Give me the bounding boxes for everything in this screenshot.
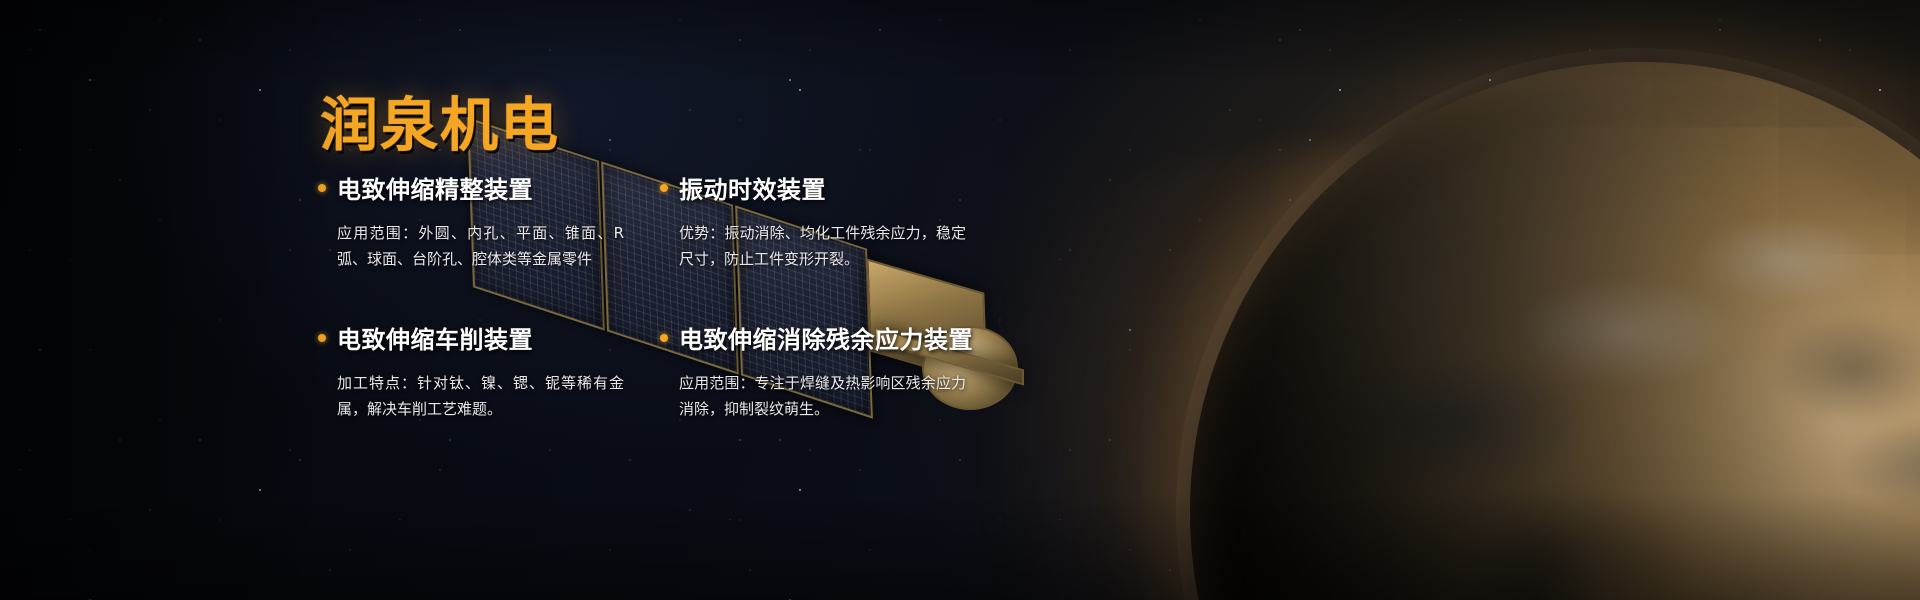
feature-2-description: 优势：振动消除、均化工件残余应力，稳定尺寸，防止工件变形开裂。 [660, 220, 966, 272]
orange-dot-icon [318, 184, 326, 192]
feature-4-header: 电致伸缩消除残余应力装置 [660, 320, 998, 355]
feature-4-title: 电致伸缩消除残余应力装置 [679, 320, 973, 355]
banner-content: 润泉机电 电致伸缩精整装置 应用范围：外圆、内孔、平面、锥面、R弧、球面、台阶孔… [0, 0, 1920, 600]
feature-3-header: 电致伸缩车削装置 [318, 320, 656, 355]
feature-1-description: 应用范围：外圆、内孔、平面、锥面、R弧、球面、台阶孔、腔体类等金属零件 [318, 220, 624, 272]
feature-2-header: 振动时效装置 [660, 170, 998, 205]
feature-item-2[interactable]: 振动时效装置 优势：振动消除、均化工件残余应力，稳定尺寸，防止工件变形开裂。 [660, 170, 998, 272]
orange-dot-icon [318, 334, 326, 342]
feature-2-title: 振动时效装置 [679, 170, 826, 205]
orange-dot-icon [660, 334, 668, 342]
feature-1-title: 电致伸缩精整装置 [337, 170, 533, 205]
feature-item-3[interactable]: 电致伸缩车削装置 加工特点：针对钛、镍、锶、铌等稀有金属，解决车削工艺难题。 [318, 320, 656, 422]
hero-banner: 润泉机电 电致伸缩精整装置 应用范围：外圆、内孔、平面、锥面、R弧、球面、台阶孔… [0, 0, 1920, 600]
brand-title: 润泉机电 [320, 78, 560, 162]
feature-item-1[interactable]: 电致伸缩精整装置 应用范围：外圆、内孔、平面、锥面、R弧、球面、台阶孔、腔体类等… [318, 170, 656, 272]
feature-grid: 电致伸缩精整装置 应用范围：外圆、内孔、平面、锥面、R弧、球面、台阶孔、腔体类等… [318, 170, 998, 422]
feature-4-description: 应用范围：专注于焊缝及热影响区残余应力消除，抑制裂纹萌生。 [660, 370, 966, 422]
feature-3-title: 电致伸缩车削装置 [337, 320, 533, 355]
orange-dot-icon [660, 184, 668, 192]
feature-3-description: 加工特点：针对钛、镍、锶、铌等稀有金属，解决车削工艺难题。 [318, 370, 624, 422]
feature-1-header: 电致伸缩精整装置 [318, 170, 656, 205]
feature-item-4[interactable]: 电致伸缩消除残余应力装置 应用范围：专注于焊缝及热影响区残余应力消除，抑制裂纹萌… [660, 320, 998, 422]
